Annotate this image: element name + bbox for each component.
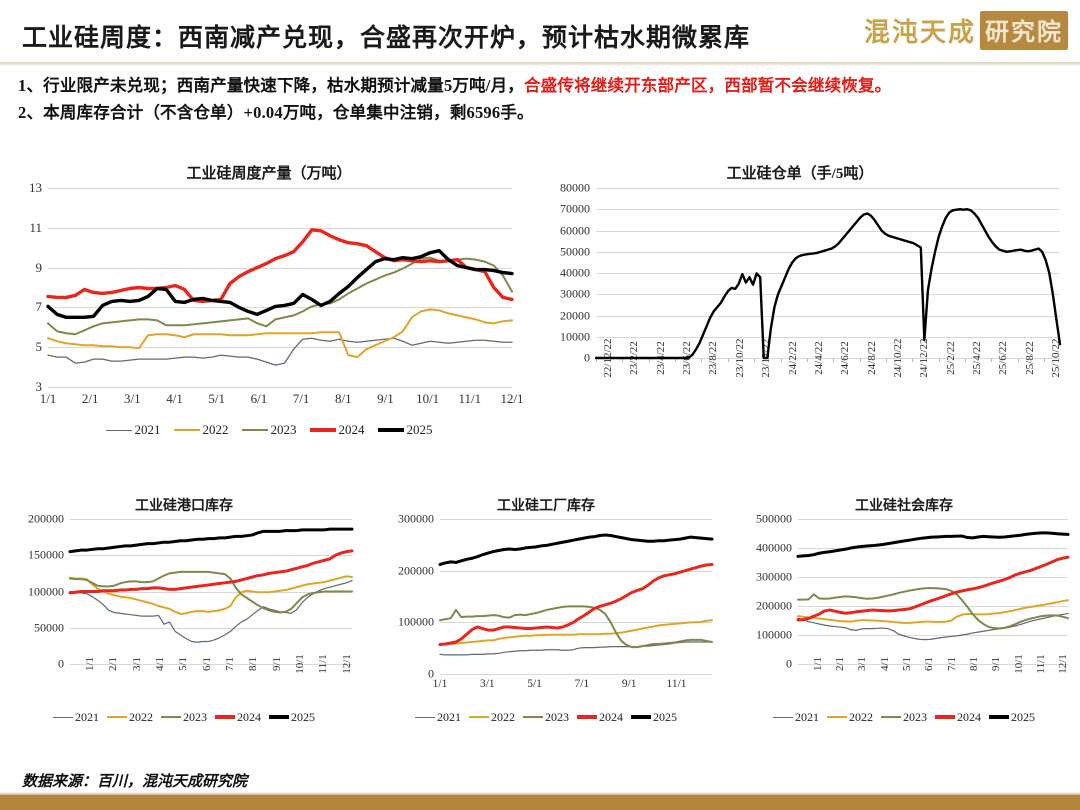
y-axis-tick-label: 100000 (398, 615, 440, 630)
chart-legend: 20212022202320242025 (8, 704, 360, 730)
legend-swatch-2021 (773, 717, 793, 718)
x-axis-tick-mark (807, 358, 808, 362)
legend-swatch-2022 (827, 716, 847, 718)
legend-item-2025[interactable]: 2025 (378, 422, 433, 438)
x-axis-tick-label: 7/1 (293, 387, 310, 407)
legend-label-2022: 2022 (129, 710, 153, 725)
legend-swatch-2024 (935, 715, 955, 719)
chart-lines (70, 519, 352, 664)
legend-item-2024[interactable]: 2024 (215, 710, 261, 725)
legend-label-2023: 2023 (903, 710, 927, 725)
x-axis-tick-mark (886, 358, 887, 362)
series-line-2022 (48, 309, 512, 357)
x-axis-tick-label: 8/1 (335, 387, 352, 407)
legend-label-2025: 2025 (291, 710, 315, 725)
legend-item-2023[interactable]: 2023 (881, 710, 927, 725)
series-line-2025 (440, 535, 712, 564)
y-axis-tick-label: 40000 (560, 266, 596, 281)
y-axis-tick-label: 60000 (560, 223, 596, 238)
chart-warehouse-receipts: 工业硅仓单（手/5吨）01000020000300004000050000600… (530, 160, 1070, 450)
legend-item-2023[interactable]: 2023 (161, 710, 207, 725)
legend-item-2025[interactable]: 2025 (269, 710, 315, 725)
series-line-2022 (70, 576, 352, 614)
legend-label-2021: 2021 (75, 710, 99, 725)
chart-lines (596, 188, 1060, 358)
y-axis-tick-label: 500000 (756, 512, 798, 527)
series-line-2022 (440, 620, 712, 644)
plot-area: 01000002000003000001/13/15/17/19/111/1 (440, 519, 712, 674)
bottom-bar (0, 795, 1080, 810)
legend-swatch-2024 (577, 715, 597, 719)
legend-label-2023: 2023 (271, 422, 297, 438)
chart-legend: 20212022202320242025 (14, 415, 524, 445)
chart-lines (48, 188, 512, 387)
legend-swatch-2023 (242, 429, 268, 431)
series-line-2024 (440, 564, 712, 644)
legend-item-2022[interactable]: 2022 (827, 710, 873, 725)
chart-weekly-output: 工业硅周度产量（万吨）357911131/12/13/14/15/16/17/1… (14, 160, 524, 445)
x-axis-tick-mark (754, 358, 755, 362)
series-line-2025 (798, 533, 1068, 556)
legend-swatch-2023 (523, 716, 543, 718)
series-line-2024 (48, 230, 512, 302)
x-axis-tick-mark (991, 358, 992, 362)
x-axis-tick-mark (860, 358, 861, 362)
page-title: 工业硅周度：西南减产兑现，合盛再次开炉，预计枯水期微累库 (22, 18, 750, 54)
legend-item-2023[interactable]: 2023 (242, 422, 297, 438)
series-line-仓单 (596, 209, 1060, 358)
legend-item-2021[interactable]: 2021 (415, 710, 461, 725)
legend-label-2025: 2025 (653, 710, 677, 725)
legend-label-2021: 2021 (135, 422, 161, 438)
legend-label-2022: 2022 (491, 710, 515, 725)
x-axis-tick-label: 9/1 (377, 387, 394, 407)
legend-swatch-2025 (989, 715, 1009, 719)
y-axis-tick-label: 70000 (560, 202, 596, 217)
legend-swatch-2022 (107, 716, 127, 718)
y-axis-tick-label: 200000 (398, 563, 440, 578)
series-line-2021 (798, 614, 1068, 640)
y-axis-tick-label: 100000 (756, 628, 798, 643)
y-axis-tick-label: 400000 (756, 541, 798, 556)
x-axis-tick-mark (1018, 358, 1019, 362)
legend-swatch-2021 (106, 430, 132, 431)
legend-label-2021: 2021 (437, 710, 461, 725)
plot-area: 0500001000001500002000001/12/13/14/15/16… (70, 519, 352, 664)
x-axis-tick-label: 3/1 (480, 674, 495, 690)
data-source-note: 数据来源：百川，混沌天成研究院 (22, 770, 247, 791)
x-axis-tick-label: 12/1 (500, 387, 523, 407)
y-axis-tick-label: 150000 (28, 548, 70, 563)
series-line-2023 (48, 258, 512, 335)
series-line-2021 (440, 642, 712, 655)
bullet-1-plain: 1、行业限产未兑现；西南产量快速下降，枯水期预计减量5万吨/月， (18, 76, 524, 95)
legend-label-2022: 2022 (203, 422, 229, 438)
x-axis-tick-label: 2/1 (82, 387, 99, 407)
series-line-2025 (70, 529, 352, 551)
chart-title: 工业硅仓单（手/5吨） (530, 160, 1070, 188)
chart-lines (798, 519, 1068, 664)
y-axis-tick-label: 30000 (560, 287, 596, 302)
legend-item-2024[interactable]: 2024 (310, 422, 365, 438)
y-axis-tick-label: 11 (29, 220, 48, 236)
legend-label-2021: 2021 (795, 710, 819, 725)
x-axis-tick-label: 6/1 (251, 387, 268, 407)
legend-label-2023: 2023 (183, 710, 207, 725)
y-axis-tick-label: 80000 (560, 181, 596, 196)
chart-legend: 20212022202320242025 (732, 704, 1076, 730)
x-axis-tick-mark (781, 358, 782, 362)
plot-area: 0100002000030000400005000060000700008000… (596, 188, 1060, 358)
chart-lines (440, 519, 712, 674)
legend-item-2021[interactable]: 2021 (106, 422, 161, 438)
x-axis-tick-label: 4/1 (166, 387, 183, 407)
x-axis-tick-mark (912, 358, 913, 362)
legend-label-2024: 2024 (957, 710, 981, 725)
legend-label-2025: 2025 (407, 422, 433, 438)
brand-logo: 混沌天成 研究院 (864, 8, 1068, 52)
header-divider (0, 62, 1080, 66)
legend-item-2024[interactable]: 2024 (935, 710, 981, 725)
legend-label-2024: 2024 (237, 710, 261, 725)
x-axis-tick-label: 3/1 (124, 387, 141, 407)
y-axis-tick-label: 200000 (28, 512, 70, 527)
legend-label-2025: 2025 (1011, 710, 1035, 725)
y-axis-tick-label: 50000 (34, 620, 70, 635)
legend-swatch-2023 (881, 716, 901, 718)
legend-swatch-2023 (161, 716, 181, 718)
chart-factory-inventory: 工业硅工厂库存01000002000003000001/13/15/17/19/… (372, 495, 720, 730)
x-axis-tick-label: 1/1 (40, 387, 57, 407)
bullet-1-highlight: 合盛传将继续开东部产区，西部暂不会继续恢复。 (524, 76, 891, 95)
bullet-1: 1、行业限产未兑现；西南产量快速下降，枯水期预计减量5万吨/月，合盛传将继续开东… (18, 72, 1064, 99)
legend-item-2023[interactable]: 2023 (523, 710, 569, 725)
legend-swatch-2024 (215, 715, 235, 719)
chart-port-inventory: 工业硅港口库存0500001000001500002000001/12/13/1… (8, 495, 360, 730)
legend-swatch-2025 (269, 715, 289, 719)
y-axis-tick-label: 10000 (560, 329, 596, 344)
legend-swatch-2022 (174, 429, 200, 431)
legend-swatch-2021 (53, 717, 73, 718)
y-axis-tick-label: 20000 (560, 308, 596, 323)
legend-item-2025[interactable]: 2025 (989, 710, 1035, 725)
legend-swatch-2024 (310, 428, 336, 432)
series-line-2021 (48, 338, 512, 365)
legend-swatch-2021 (415, 717, 435, 718)
summary-bullets: 1、行业限产未兑现；西南产量快速下降，枯水期预计减量5万吨/月，合盛传将继续开东… (18, 72, 1064, 126)
x-axis-tick-label: 10/1 (416, 387, 439, 407)
x-axis-tick-mark (728, 358, 729, 362)
legend-item-2025[interactable]: 2025 (631, 710, 677, 725)
legend-item-2022[interactable]: 2022 (107, 710, 153, 725)
x-axis-tick-label: 1/1 (433, 674, 448, 690)
bullet-2-plain: 2、本周库存合计（不含仓单）+0.04万吨，仓单集中注销，剩6596手。 (18, 103, 534, 122)
x-axis-tick-label: 11/1 (458, 387, 481, 407)
plot-area: 357911131/12/13/14/15/16/17/18/19/110/11… (48, 188, 512, 387)
chart-title: 工业硅周度产量（万吨） (14, 160, 524, 188)
x-axis-tick-mark (939, 358, 940, 362)
legend-item-2021[interactable]: 2021 (53, 710, 99, 725)
x-axis-tick-mark (701, 358, 702, 362)
legend-swatch-2025 (378, 428, 404, 432)
x-axis-tick-mark (965, 358, 966, 362)
slide-root: 工业硅周度：西南减产兑现，合盛再次开炉，预计枯水期微累库 混沌天成 研究院 1、… (0, 0, 1080, 810)
chart-legend: 20212022202320242025 (372, 704, 720, 730)
x-axis-tick-label: 7/1 (575, 674, 590, 690)
y-axis-tick-label: 13 (29, 180, 48, 196)
y-axis-tick-label: 50000 (560, 244, 596, 259)
y-axis-tick-label: 0 (786, 657, 798, 672)
y-axis-tick-label: 200000 (756, 599, 798, 614)
plot-area: 01000002000003000004000005000001/12/13/1… (798, 519, 1068, 664)
legend-swatch-2022 (469, 716, 489, 718)
logo-wordmark: 混沌天成 (864, 12, 976, 49)
y-axis-tick-label: 300000 (756, 570, 798, 585)
legend-label-2022: 2022 (849, 710, 873, 725)
x-axis-tick-label: 5/1 (527, 674, 542, 690)
legend-label-2023: 2023 (545, 710, 569, 725)
legend-item-2022[interactable]: 2022 (469, 710, 515, 725)
y-axis-tick-label: 0 (58, 657, 70, 672)
legend-item-2021[interactable]: 2021 (773, 710, 819, 725)
y-axis-tick-label: 7 (36, 299, 49, 315)
x-axis-tick-mark (1044, 358, 1045, 362)
x-axis-tick-label: 5/1 (208, 387, 225, 407)
gridline (48, 387, 512, 388)
y-axis-tick-label: 5 (36, 339, 49, 355)
y-axis-tick-label: 0 (584, 351, 596, 366)
bullet-2: 2、本周库存合计（不含仓单）+0.04万吨，仓单集中注销，剩6596手。 (18, 99, 1064, 126)
y-axis-tick-label: 100000 (28, 584, 70, 599)
x-axis-tick-mark (833, 358, 834, 362)
logo-badge: 研究院 (980, 11, 1068, 50)
y-axis-tick-label: 9 (36, 260, 49, 276)
legend-label-2024: 2024 (599, 710, 623, 725)
x-axis-tick-label: 11/1 (667, 674, 687, 690)
legend-item-2022[interactable]: 2022 (174, 422, 229, 438)
x-axis-tick-label: 9/1 (622, 674, 637, 690)
legend-label-2024: 2024 (339, 422, 365, 438)
legend-item-2024[interactable]: 2024 (577, 710, 623, 725)
chart-social-inventory: 工业硅社会库存01000002000003000004000005000001/… (732, 495, 1076, 730)
slide-header: 工业硅周度：西南减产兑现，合盛再次开炉，预计枯水期微累库 混沌天成 研究院 (0, 0, 1080, 66)
legend-swatch-2025 (631, 715, 651, 719)
y-axis-tick-label: 300000 (398, 512, 440, 527)
